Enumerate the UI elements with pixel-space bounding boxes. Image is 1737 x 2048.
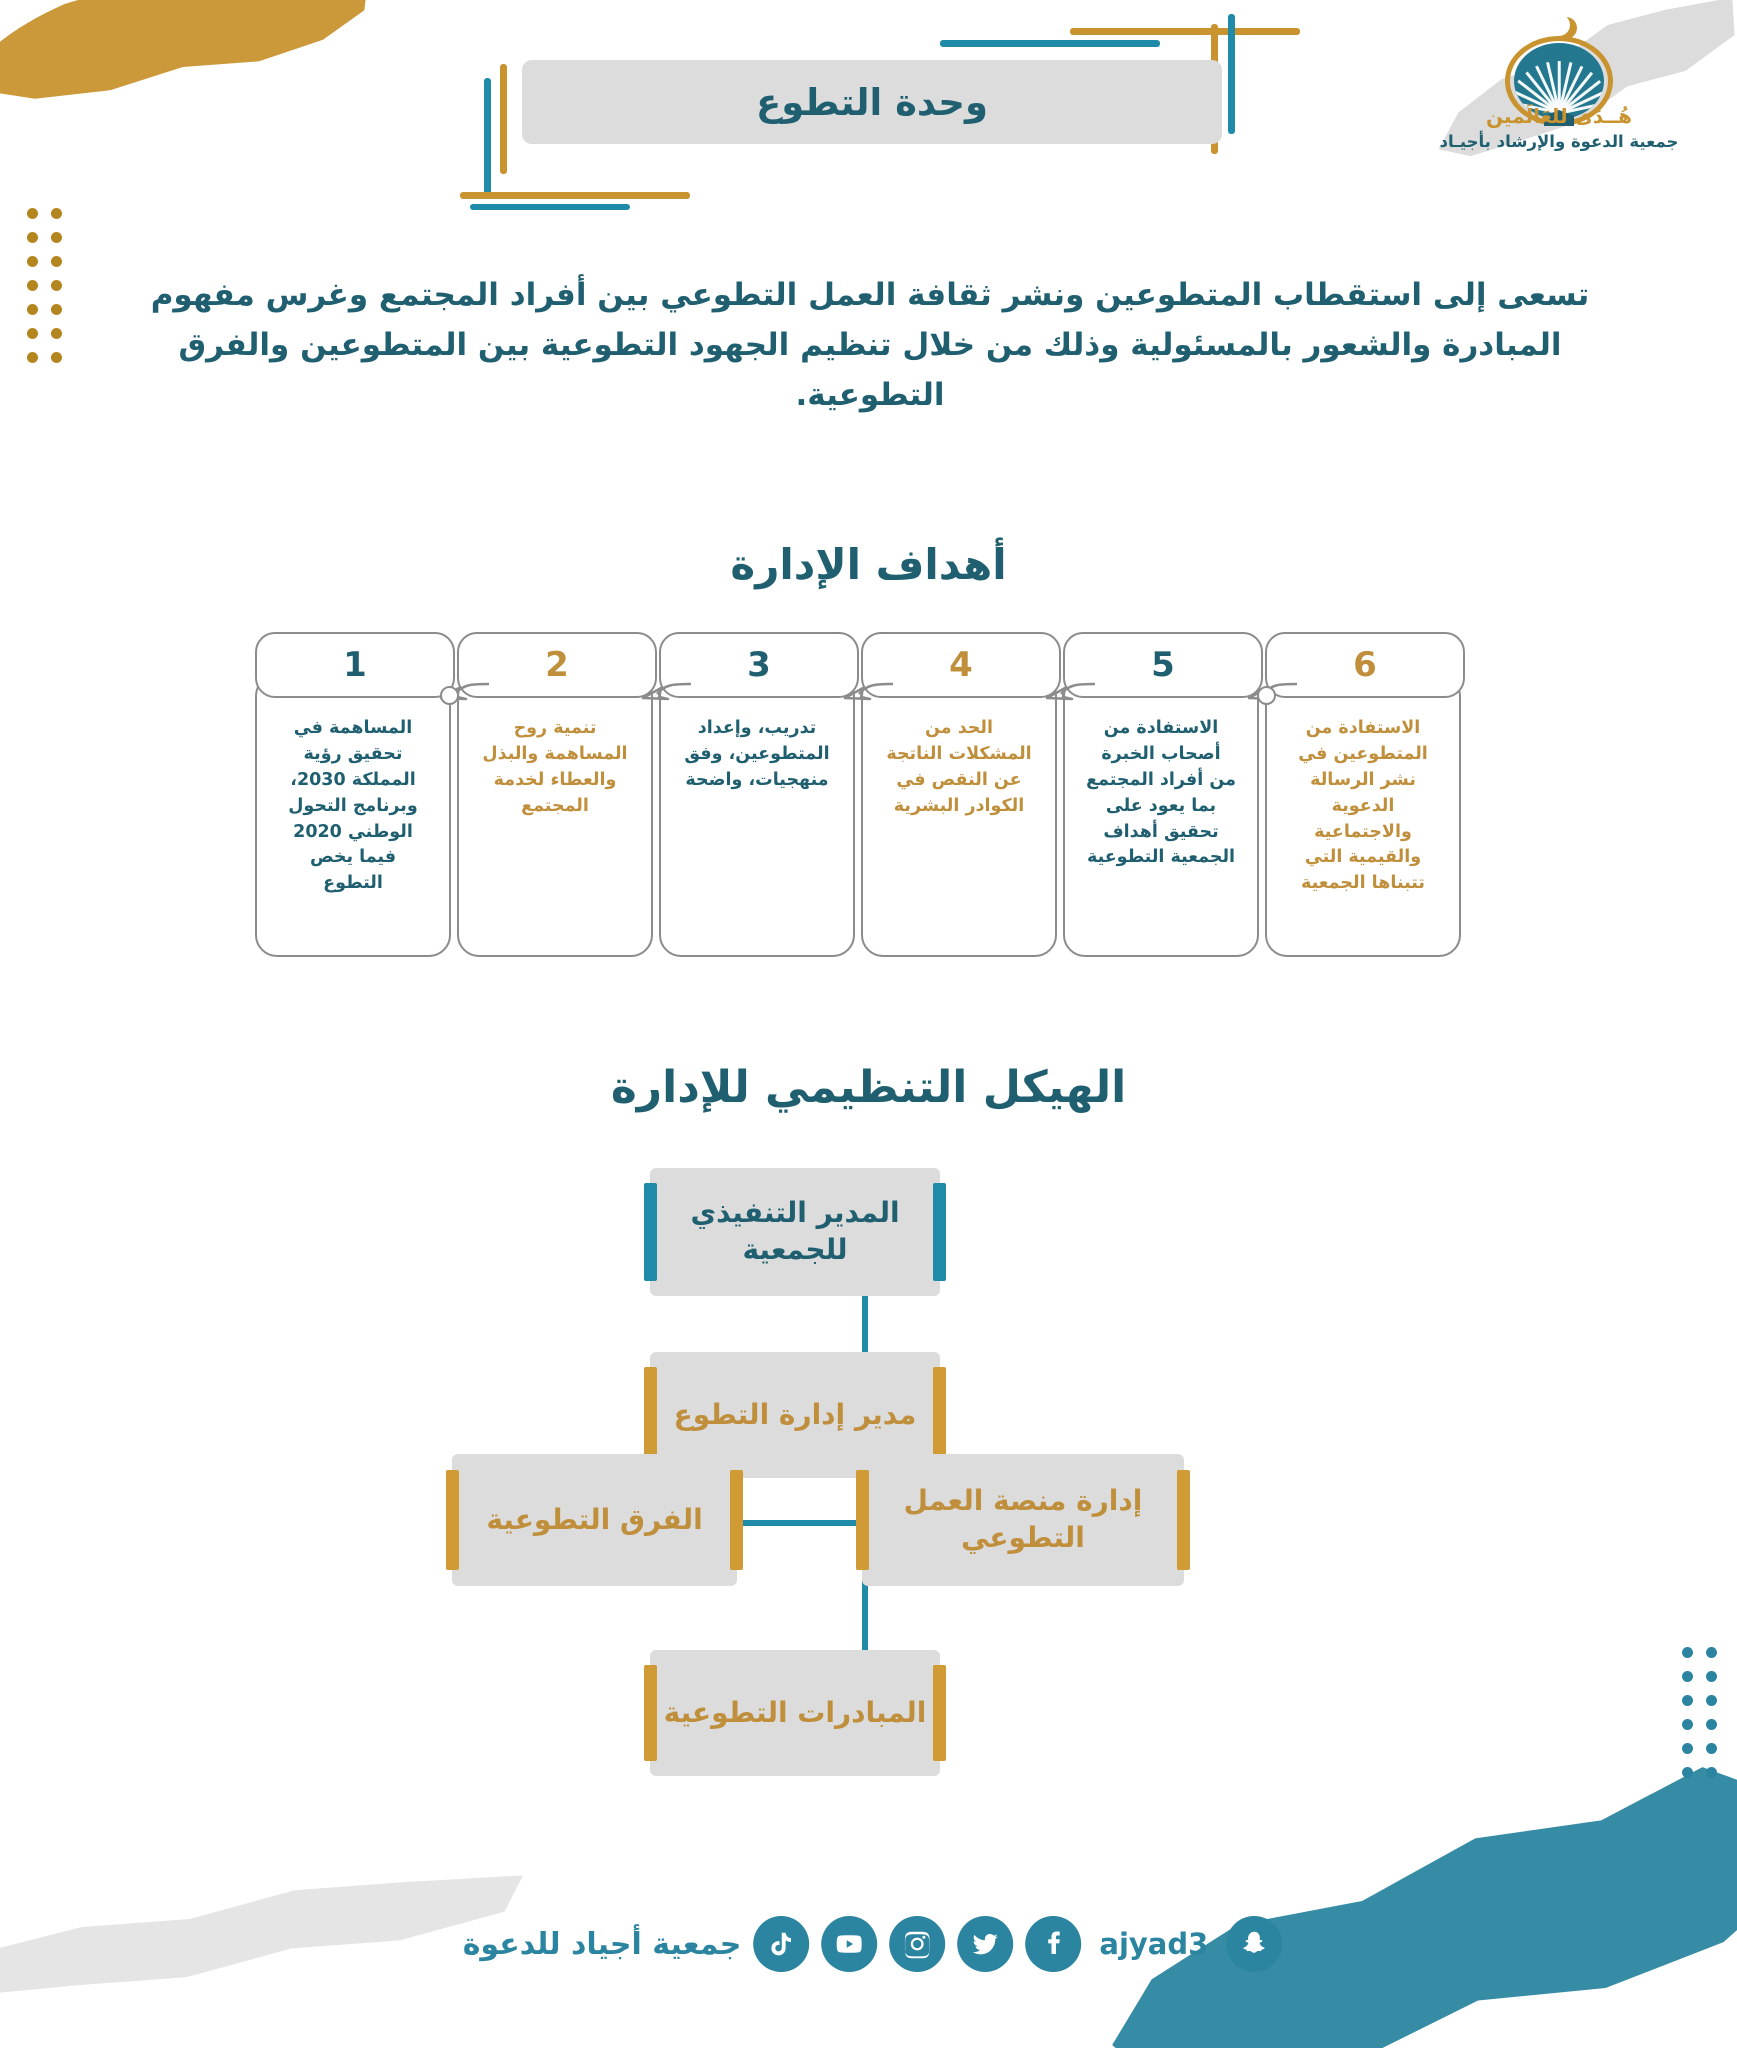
header: وحدة التطوع هُــدًى للعَالَمين جمعية الد… — [0, 0, 1737, 195]
tiktok-icon[interactable] — [753, 1916, 809, 1972]
org-node-executive-director[interactable]: المدير التنفيذي للجمعية — [650, 1168, 940, 1296]
org-node-initiatives[interactable]: المبادرات التطوعية — [650, 1650, 940, 1776]
goal-card-6[interactable]: الاستفادة من المتطوعين في نشر الرسالة ال… — [1265, 632, 1461, 957]
org-node-label: الفرق التطوعية — [486, 1502, 702, 1539]
goals-cards-row: المساهمة في تحقيق رؤية المملكة 2030، وبر… — [255, 632, 1485, 967]
goals-section-title: أهداف الإدارة — [0, 540, 1737, 589]
page-title: وحدة التطوع — [756, 81, 988, 124]
node-accent-bar-right — [933, 1367, 946, 1463]
goal-number-badge: 1 — [255, 632, 455, 698]
node-accent-bar-left — [644, 1183, 657, 1280]
dot — [51, 256, 62, 267]
header-line-gold-top — [1070, 28, 1300, 35]
goal-card-4[interactable]: الحد من المشكلات الناتجة عن النقص في الك… — [861, 632, 1057, 957]
goal-card-1[interactable]: المساهمة في تحقيق رؤية المملكة 2030، وبر… — [255, 632, 451, 957]
dot — [27, 352, 38, 363]
social-links-row: جمعية أجياد للدعوة ajyad3 — [455, 1916, 1283, 1972]
node-accent-bar-left — [856, 1470, 869, 1570]
chain-endcap — [1257, 686, 1276, 705]
node-accent-bar-left — [644, 1367, 657, 1463]
goal-card-body: المساهمة في تحقيق رؤية المملكة 2030، وبر… — [255, 674, 451, 957]
goal-card-body: تنمية روح المساهمة والبذل والعطاء لخدمة … — [457, 674, 653, 957]
goal-card-2[interactable]: تنمية روح المساهمة والبذل والعطاء لخدمة … — [457, 632, 653, 957]
org-node-label: المبادرات التطوعية — [664, 1695, 927, 1732]
footer: جمعية أجياد للدعوة ajyad3 — [0, 1916, 1737, 2006]
snapchat-icon[interactable] — [1226, 1916, 1282, 1972]
org-chart-section-title: الهيكل التنظيمي للإدارة — [0, 1062, 1737, 1113]
goal-card-body: تدريب، وإعداد المتطوعين، وفق منهجيات، وا… — [659, 674, 855, 957]
org-node-label: المدير التنفيذي للجمعية — [650, 1195, 940, 1269]
goal-connector-arrow — [1039, 680, 1097, 714]
goal-text: الحد من المشكلات الناتجة عن النقص في الك… — [884, 716, 1034, 955]
goal-card-body: الحد من المشكلات الناتجة عن النقص في الك… — [861, 674, 1057, 957]
org-node-platform-admin[interactable]: إدارة منصة العمل التطوعي — [862, 1454, 1184, 1586]
goal-text: الاستفادة من المتطوعين في نشر الرسالة ال… — [1288, 716, 1438, 955]
intro-paragraph: تسعى إلى استقطاب المتطوعين ونشر ثقافة ال… — [120, 270, 1620, 421]
goal-number: 4 — [949, 645, 973, 685]
dot — [27, 232, 38, 243]
goal-text: تدريب، وإعداد المتطوعين، وفق منهجيات، وا… — [682, 716, 832, 955]
snapchat-handle: ajyad3 — [1099, 1927, 1208, 1961]
node-accent-bar-left — [644, 1665, 657, 1761]
logo-brand-small: جمعية الدعوة والإرشاد بأجيـاد — [1409, 132, 1709, 151]
goal-text: المساهمة في تحقيق رؤية المملكة 2030، وبر… — [278, 716, 428, 955]
page-title-box: وحدة التطوع — [522, 60, 1222, 144]
goal-connector-arrow — [837, 680, 895, 714]
organization-logo: هُــدًى للعَالَمين جمعية الدعوة والإرشاد… — [1409, 12, 1709, 192]
dot — [51, 280, 62, 291]
dot — [51, 352, 62, 363]
twitter-icon[interactable] — [957, 1916, 1013, 1972]
goal-number: 5 — [1151, 645, 1175, 685]
goal-number: 2 — [545, 645, 569, 685]
chain-endcap — [440, 686, 459, 705]
goal-card-body: الاستفادة من أصحاب الخبرة من أفراد المجت… — [1063, 674, 1259, 957]
goal-connector-arrow — [635, 680, 693, 714]
dot — [51, 328, 62, 339]
header-line-gold-left — [500, 64, 507, 174]
header-line-gold-bottom — [460, 192, 690, 199]
dot — [27, 304, 38, 315]
goal-card-3[interactable]: تدريب، وإعداد المتطوعين، وفق منهجيات، وا… — [659, 632, 855, 957]
goal-card-body: الاستفادة من المتطوعين في نشر الرسالة ال… — [1265, 674, 1461, 957]
facebook-icon[interactable] — [1025, 1916, 1081, 1972]
node-accent-bar-left — [446, 1470, 459, 1570]
footer-org-name: جمعية أجياد للدعوة — [463, 1927, 742, 1962]
node-accent-bar-right — [933, 1665, 946, 1761]
dot — [51, 304, 62, 315]
goal-text: الاستفادة من أصحاب الخبرة من أفراد المجت… — [1086, 716, 1236, 955]
infographic-page: وحدة التطوع هُــدًى للعَالَمين جمعية الد… — [0, 0, 1737, 2048]
dot — [27, 208, 38, 219]
goal-card-5[interactable]: الاستفادة من أصحاب الخبرة من أفراد المجت… — [1063, 632, 1259, 957]
header-line-teal-top — [940, 40, 1160, 47]
connector-director-to-manager — [862, 1296, 868, 1352]
node-accent-bar-right — [1177, 1470, 1190, 1570]
logo-brand-large: هُــدًى للعَالَمين — [1409, 104, 1709, 128]
dot-pattern-left — [14, 208, 62, 363]
dot — [51, 208, 62, 219]
dot — [27, 256, 38, 267]
node-accent-bar-right — [933, 1183, 946, 1280]
goal-number: 3 — [747, 645, 771, 685]
dot — [27, 328, 38, 339]
crescent-icon — [1548, 14, 1570, 36]
instagram-icon[interactable] — [889, 1916, 945, 1972]
header-line-teal-left — [484, 78, 491, 196]
org-node-volunteer-teams[interactable]: الفرق التطوعية — [452, 1454, 737, 1586]
goal-number: 6 — [1353, 645, 1377, 685]
org-chart: المدير التنفيذي للجمعية مدير إدارة التطو… — [0, 1168, 1737, 1898]
org-node-label: مدير إدارة التطوع — [674, 1397, 917, 1434]
goal-text: تنمية روح المساهمة والبذل والعطاء لخدمة … — [480, 716, 630, 955]
header-line-teal-bottom — [470, 204, 630, 210]
dot — [51, 232, 62, 243]
header-line-teal-right — [1228, 14, 1235, 134]
node-accent-bar-right — [730, 1470, 743, 1570]
youtube-icon[interactable] — [821, 1916, 877, 1972]
dot — [27, 280, 38, 291]
org-node-label: إدارة منصة العمل التطوعي — [862, 1483, 1184, 1557]
goal-number: 1 — [343, 645, 367, 685]
